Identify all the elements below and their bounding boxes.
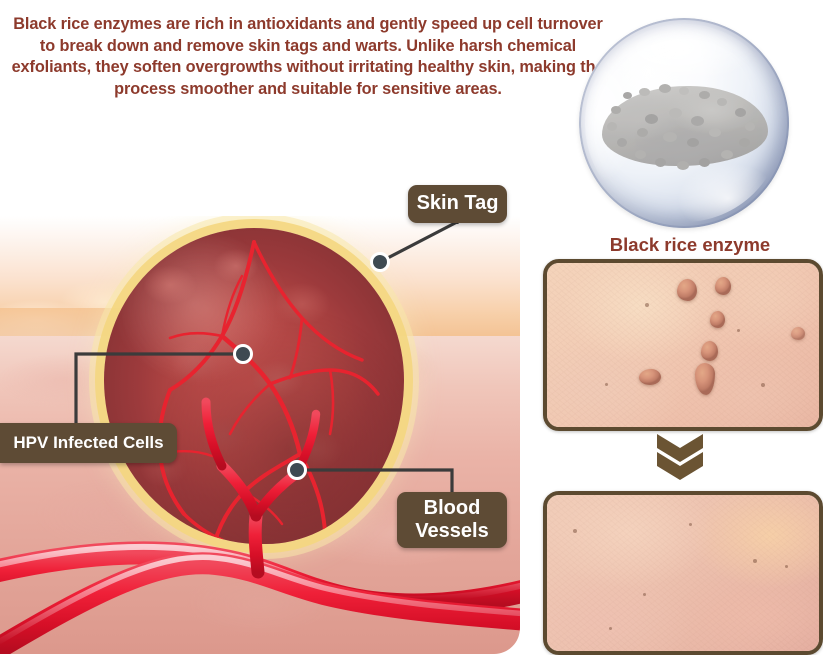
double-chevron-down-icon <box>654 432 706 482</box>
skin-tag-lesion <box>715 277 731 295</box>
before-skin-photo <box>543 259 823 431</box>
skin-tag-lesion <box>710 311 725 328</box>
skin-tag-lesion <box>791 327 805 340</box>
enzyme-ingredient-block: Black rice enzyme <box>565 12 815 257</box>
intro-paragraph: Black rice enzymes are rich in antioxida… <box>8 14 608 101</box>
callout-blood-line-1: Blood <box>424 497 481 520</box>
black-rice-enzyme-sphere-image <box>579 18 789 228</box>
after-skin-texture <box>547 495 819 651</box>
callout-blood-line-2: Vessels <box>415 520 488 543</box>
skin-tag-lesion <box>701 341 718 361</box>
skin-tag-lesion <box>639 369 661 385</box>
enzyme-caption-label: Black rice enzyme <box>565 234 815 256</box>
callout-hpv-infected-cells[interactable]: HPV Infected Cells <box>0 423 177 463</box>
after-skin-photo <box>543 491 823 655</box>
callout-skin-tag[interactable]: Skin Tag <box>408 185 507 223</box>
callout-blood-vessels[interactable]: Blood Vessels <box>397 492 507 548</box>
skin-tag-lesion <box>677 279 697 301</box>
